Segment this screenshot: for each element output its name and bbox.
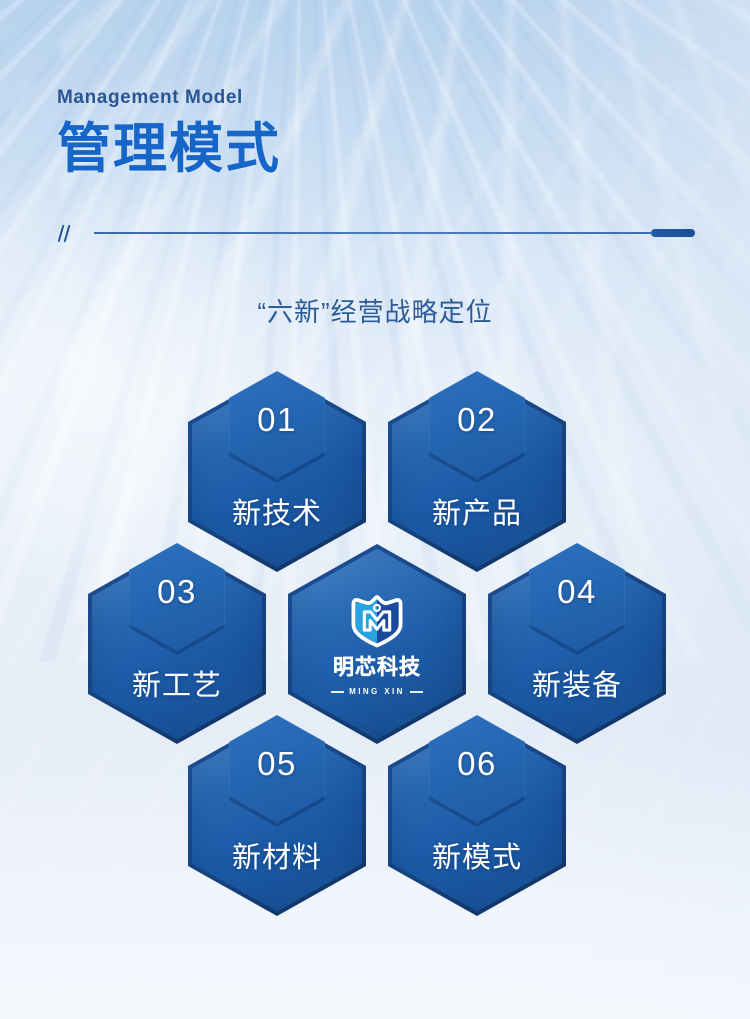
logo-brand-cn: 明芯科技: [333, 657, 421, 678]
header-eyebrow: Management Model: [57, 88, 281, 107]
divider-end-cap: [651, 229, 695, 237]
hex-cell-03[interactable]: 03 新工艺: [88, 544, 266, 744]
hex-label: 新工艺: [88, 662, 266, 704]
page-header: Management Model 管理模式: [57, 88, 281, 178]
hex-number: 06: [457, 747, 497, 780]
page-title: 管理模式: [57, 121, 281, 178]
logo-rule-right: [410, 691, 423, 693]
divider-line: [94, 232, 653, 233]
hex-number: 05: [257, 747, 297, 780]
hex-cell-05[interactable]: 05 新材料: [188, 716, 366, 916]
hex-label: 新材料: [188, 834, 366, 876]
logo-brand-en-row: MING XIN: [331, 688, 423, 696]
hex-cell-01[interactable]: 01 新技术: [188, 372, 366, 572]
honeycomb-diagram: 01 新技术 02 新产品 03 新工艺: [0, 362, 750, 942]
double-slash-icon: [57, 223, 77, 243]
hex-label: 新产品: [388, 490, 566, 532]
m-shield-logo-icon: [348, 592, 406, 650]
hex-cell-02[interactable]: 02 新产品: [388, 372, 566, 572]
logo-rule-left: [331, 691, 344, 693]
hex-number: 01: [257, 403, 297, 436]
hex-cell-center-logo[interactable]: 明芯科技 MING XIN: [288, 544, 466, 744]
page-root: Management Model 管理模式 “六新”经营战略定位 01 新技术: [0, 0, 750, 1019]
hex-label: 新技术: [188, 490, 366, 532]
hex-cell-06[interactable]: 06 新模式: [388, 716, 566, 916]
hex-cell-04[interactable]: 04 新装备: [488, 544, 666, 744]
logo-brand-en: MING XIN: [349, 688, 405, 696]
company-logo: 明芯科技 MING XIN: [288, 544, 466, 744]
hex-number: 02: [457, 403, 497, 436]
hex-number: 04: [557, 575, 597, 608]
header-divider: [57, 222, 695, 244]
hex-label: 新装备: [488, 662, 666, 704]
hex-label: 新模式: [388, 834, 566, 876]
section-subtitle: “六新”经营战略定位: [0, 292, 750, 329]
hex-number: 03: [157, 575, 197, 608]
